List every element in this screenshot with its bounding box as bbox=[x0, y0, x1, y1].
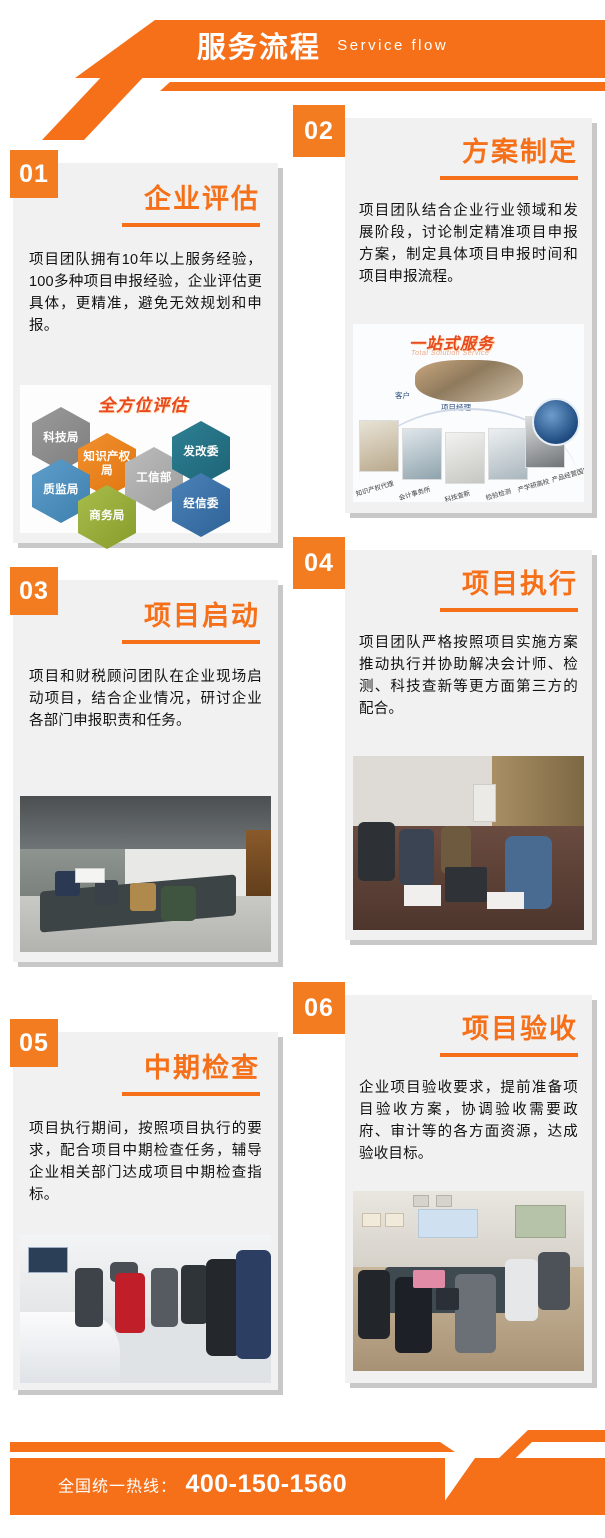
team-photo-blob bbox=[415, 360, 523, 402]
service-label-tech-search: 科技查新 bbox=[443, 487, 471, 502]
node-label-customer: 客户 bbox=[395, 390, 410, 401]
process-step-card-03[interactable]: 03 项目启动 项目和财税顾问团队在企业现场启动项目，结合企业情况，研讨企业各部… bbox=[13, 580, 278, 962]
step-description: 项目执行期间，按照项目执行的要求，配合项目中期检查任务，辅导企业相关部门达成项目… bbox=[29, 1118, 262, 1206]
step-description: 项目团队结合企业行业领域和发展阶段，讨论制定精准项目申报方案，制定具体项目申报时… bbox=[359, 200, 578, 288]
title-underline bbox=[440, 176, 578, 180]
step-number-badge: 01 bbox=[10, 150, 58, 198]
step-title: 方案制定 bbox=[345, 130, 578, 169]
title-underline bbox=[440, 608, 578, 612]
header-title-group: 服务流程 Service flow bbox=[0, 24, 605, 66]
page-header: 服务流程 Service flow bbox=[0, 0, 605, 120]
title-underline bbox=[440, 1053, 578, 1057]
hotline-label: 全国统一热线： bbox=[58, 1479, 177, 1496]
one-stop-service-infographic: 一站式服务 Total Solution Service 客户 项目经理 知识产… bbox=[353, 324, 584, 502]
service-label-inspection: 检验检测 bbox=[484, 485, 512, 502]
process-step-card-06[interactable]: 06 项目验收 企业项目验收要求，提前准备项目验收方案，协调验收需要政府、审计等… bbox=[345, 995, 592, 1383]
hotline-group: 全国统一热线： 400-150-1560 bbox=[58, 1470, 347, 1499]
step-description: 项目团队严格按照项目实施方案推动执行并协助解决会计师、检测、科技查新等更方面第三… bbox=[359, 632, 578, 720]
step-description: 项目团队拥有10年以上服务经验，100多种项目申报经验，企业评估更具体，更精准，… bbox=[29, 249, 262, 337]
title-underline bbox=[122, 1092, 260, 1096]
step-number-badge: 04 bbox=[293, 537, 345, 589]
step-photo-kickoff-meeting bbox=[20, 796, 271, 952]
infographic-title: 全方位评估 bbox=[98, 391, 188, 416]
service-thumb-ip-agency bbox=[359, 420, 399, 472]
service-label-accounting: 会计事务所 bbox=[397, 483, 431, 502]
title-underline bbox=[122, 223, 260, 227]
service-thumb-inspection bbox=[488, 428, 528, 480]
process-step-card-04[interactable]: 04 项目执行 项目团队严格按照项目实施方案推动执行并协助解决会计师、检测、科技… bbox=[345, 550, 592, 940]
service-thumb-tech-search bbox=[445, 432, 485, 484]
step-description: 企业项目验收要求，提前准备项目验收方案，协调验收需要政府、审计等的各方面资源，达… bbox=[359, 1077, 578, 1165]
step-photo-execution-worksession bbox=[353, 756, 584, 930]
step-title: 项目验收 bbox=[345, 1007, 578, 1046]
certification-seal-icon bbox=[532, 398, 580, 446]
page-title: 服务流程 bbox=[197, 32, 321, 64]
step-number-badge: 05 bbox=[10, 1019, 58, 1067]
step-number-badge: 02 bbox=[293, 105, 345, 157]
step-photo-showroom-visit bbox=[20, 1235, 271, 1383]
service-thumb-accounting bbox=[402, 428, 442, 480]
step-description: 项目和财税顾问团队在企业现场启动项目，结合企业情况，研讨企业各部门申报职责和任务… bbox=[29, 666, 262, 732]
infographic-subtitle: Total Solution Service bbox=[411, 350, 489, 357]
step-photo-acceptance-meeting bbox=[353, 1191, 584, 1371]
process-step-card-02[interactable]: 02 方案制定 项目团队结合企业行业领域和发展阶段，讨论制定精准项目申报方案，制… bbox=[345, 118, 592, 513]
process-step-card-01[interactable]: 01 企业评估 项目团队拥有10年以上服务经验，100多种项目申报经验，企业评估… bbox=[13, 163, 278, 543]
step-number-badge: 03 bbox=[10, 567, 58, 615]
step-number-badge: 06 bbox=[293, 982, 345, 1034]
hotline-number[interactable]: 400-150-1560 bbox=[185, 1470, 347, 1498]
page-subtitle: Service flow bbox=[337, 37, 448, 54]
process-step-card-05[interactable]: 05 中期检查 项目执行期间，按照项目执行的要求，配合项目中期检查任务，辅导企业… bbox=[13, 1032, 278, 1390]
title-underline bbox=[122, 640, 260, 644]
page-footer: 全国统一热线： 400-150-1560 bbox=[0, 1430, 605, 1538]
assessment-infographic: 全方位评估 科技局 知识产权局 质监局 商务局 工信部 发改委 经信委 bbox=[20, 385, 271, 533]
step-title: 项目执行 bbox=[345, 562, 578, 601]
